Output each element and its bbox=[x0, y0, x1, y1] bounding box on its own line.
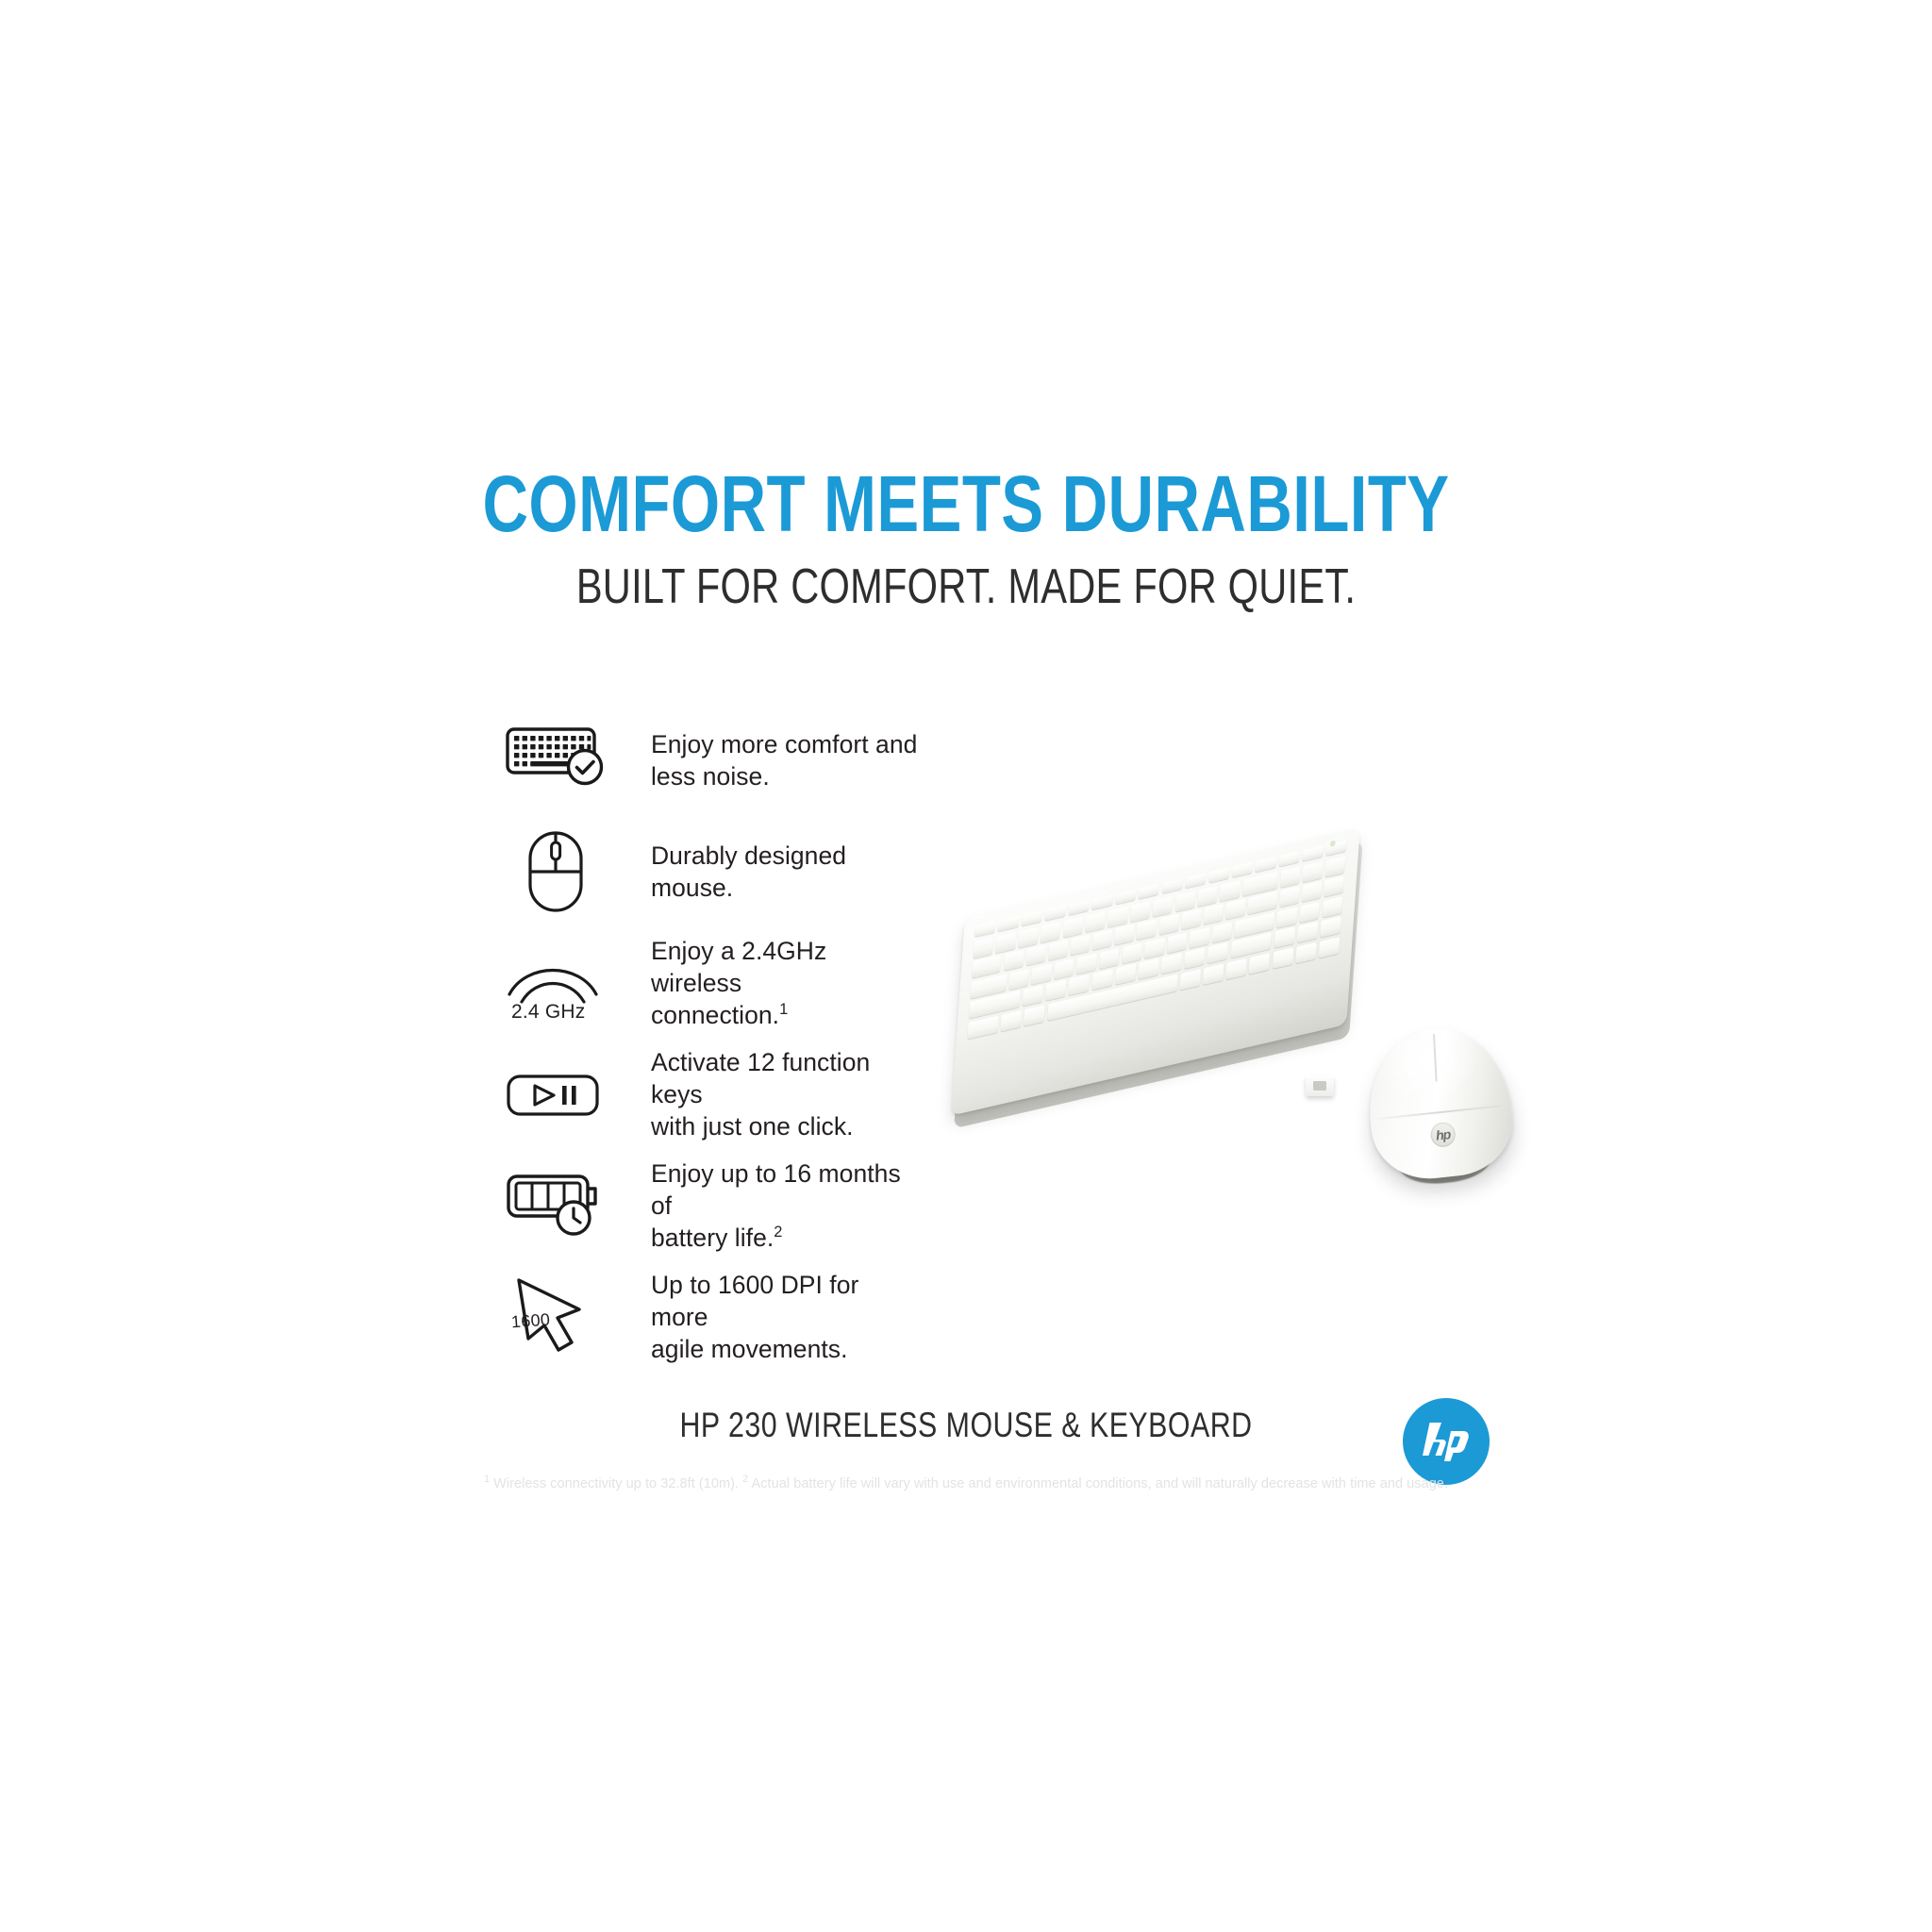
mouse-icon bbox=[506, 822, 630, 924]
feature-line-1: Enjoy up to 16 months of bbox=[651, 1159, 901, 1220]
page-title: COMFORT MEETS DURABILITY bbox=[193, 464, 1739, 543]
feature-line-1: Enjoy more comfort and bbox=[651, 730, 917, 758]
feature-text: Enjoy more comfort and less noise. bbox=[630, 729, 917, 793]
dpi-value-label: 1600 bbox=[510, 1310, 551, 1333]
feature-line-1: Durably designed mouse. bbox=[651, 841, 846, 902]
feature-line-1: Up to 1600 DPI for more bbox=[651, 1271, 858, 1331]
feature-text: Enjoy up to 16 months of battery life.2 bbox=[630, 1158, 921, 1255]
feature-line-1: Activate 12 function keys bbox=[651, 1048, 870, 1108]
feature-text: Up to 1600 DPI for more agile movements. bbox=[630, 1270, 921, 1366]
feature-line-2: connection. bbox=[651, 1001, 779, 1029]
cursor-dpi-icon: 1600 bbox=[506, 1267, 630, 1369]
feature-text: Enjoy a 2.4GHz wireless connection.1 bbox=[630, 936, 921, 1032]
feature-list: Enjoy more comfort and less noise. Durab… bbox=[506, 706, 921, 1374]
usb-receiver-dongle bbox=[1306, 1075, 1334, 1096]
footnote-marker: 2 bbox=[774, 1224, 782, 1241]
wireless-mouse: hp bbox=[1361, 1022, 1519, 1201]
footnote: 1 Wireless connectivity up to 32.8ft (10… bbox=[0, 1474, 1932, 1491]
feature-item-battery: Enjoy up to 16 months of battery life.2 bbox=[506, 1151, 921, 1262]
feature-line-2: less noise. bbox=[651, 762, 770, 791]
wireless-frequency-label: 2.4 GHz bbox=[511, 1001, 585, 1024]
product-photo: hp bbox=[943, 877, 1547, 1189]
feature-item-durable-mouse: Durably designed mouse. bbox=[506, 817, 921, 928]
keyboard-check-icon bbox=[506, 710, 630, 812]
mouse-button-split bbox=[1433, 1034, 1437, 1081]
keyboard-keys bbox=[963, 841, 1347, 1102]
footnote-text-1: Wireless connectivity up to 32.8ft (10m)… bbox=[490, 1476, 742, 1491]
feature-line-2: agile movements. bbox=[651, 1335, 847, 1363]
product-name: HP 230 WIRELESS MOUSE & KEYBOARD bbox=[174, 1406, 1757, 1445]
footnote-marker: 1 bbox=[779, 1001, 788, 1018]
mouse-seam bbox=[1378, 1105, 1502, 1120]
feature-text: Activate 12 function keys with just one … bbox=[630, 1047, 921, 1143]
feature-line-2: with just one click. bbox=[651, 1112, 854, 1141]
mouse-shell bbox=[1361, 1022, 1518, 1185]
feature-line-2: battery life. bbox=[651, 1224, 774, 1252]
feature-item-wireless: 2.4 GHz Enjoy a 2.4GHz wireless connecti… bbox=[506, 928, 921, 1040]
feature-item-dpi: 1600 Up to 1600 DPI for more agile movem… bbox=[506, 1262, 921, 1374]
page-subtitle: BUILT FOR COMFORT. MADE FOR QUIET. bbox=[193, 562, 1739, 611]
wireless-signal-icon: 2.4 GHz bbox=[506, 933, 630, 1035]
wireless-keyboard bbox=[951, 827, 1360, 1115]
play-pause-key-icon bbox=[506, 1044, 630, 1146]
marketing-banner: COMFORT MEETS DURABILITY BUILT FOR COMFO… bbox=[0, 0, 1932, 1932]
hp-logo bbox=[1403, 1398, 1490, 1485]
feature-item-function-keys: Activate 12 function keys with just one … bbox=[506, 1040, 921, 1151]
hp-logo-mark bbox=[1414, 1420, 1478, 1463]
feature-text: Durably designed mouse. bbox=[630, 841, 921, 905]
footnote-text-2: Actual battery life will vary with use a… bbox=[748, 1476, 1448, 1491]
battery-clock-icon bbox=[506, 1156, 630, 1257]
feature-line-1: Enjoy a 2.4GHz wireless bbox=[651, 937, 826, 997]
feature-item-comfort: Enjoy more comfort and less noise. bbox=[506, 706, 921, 817]
